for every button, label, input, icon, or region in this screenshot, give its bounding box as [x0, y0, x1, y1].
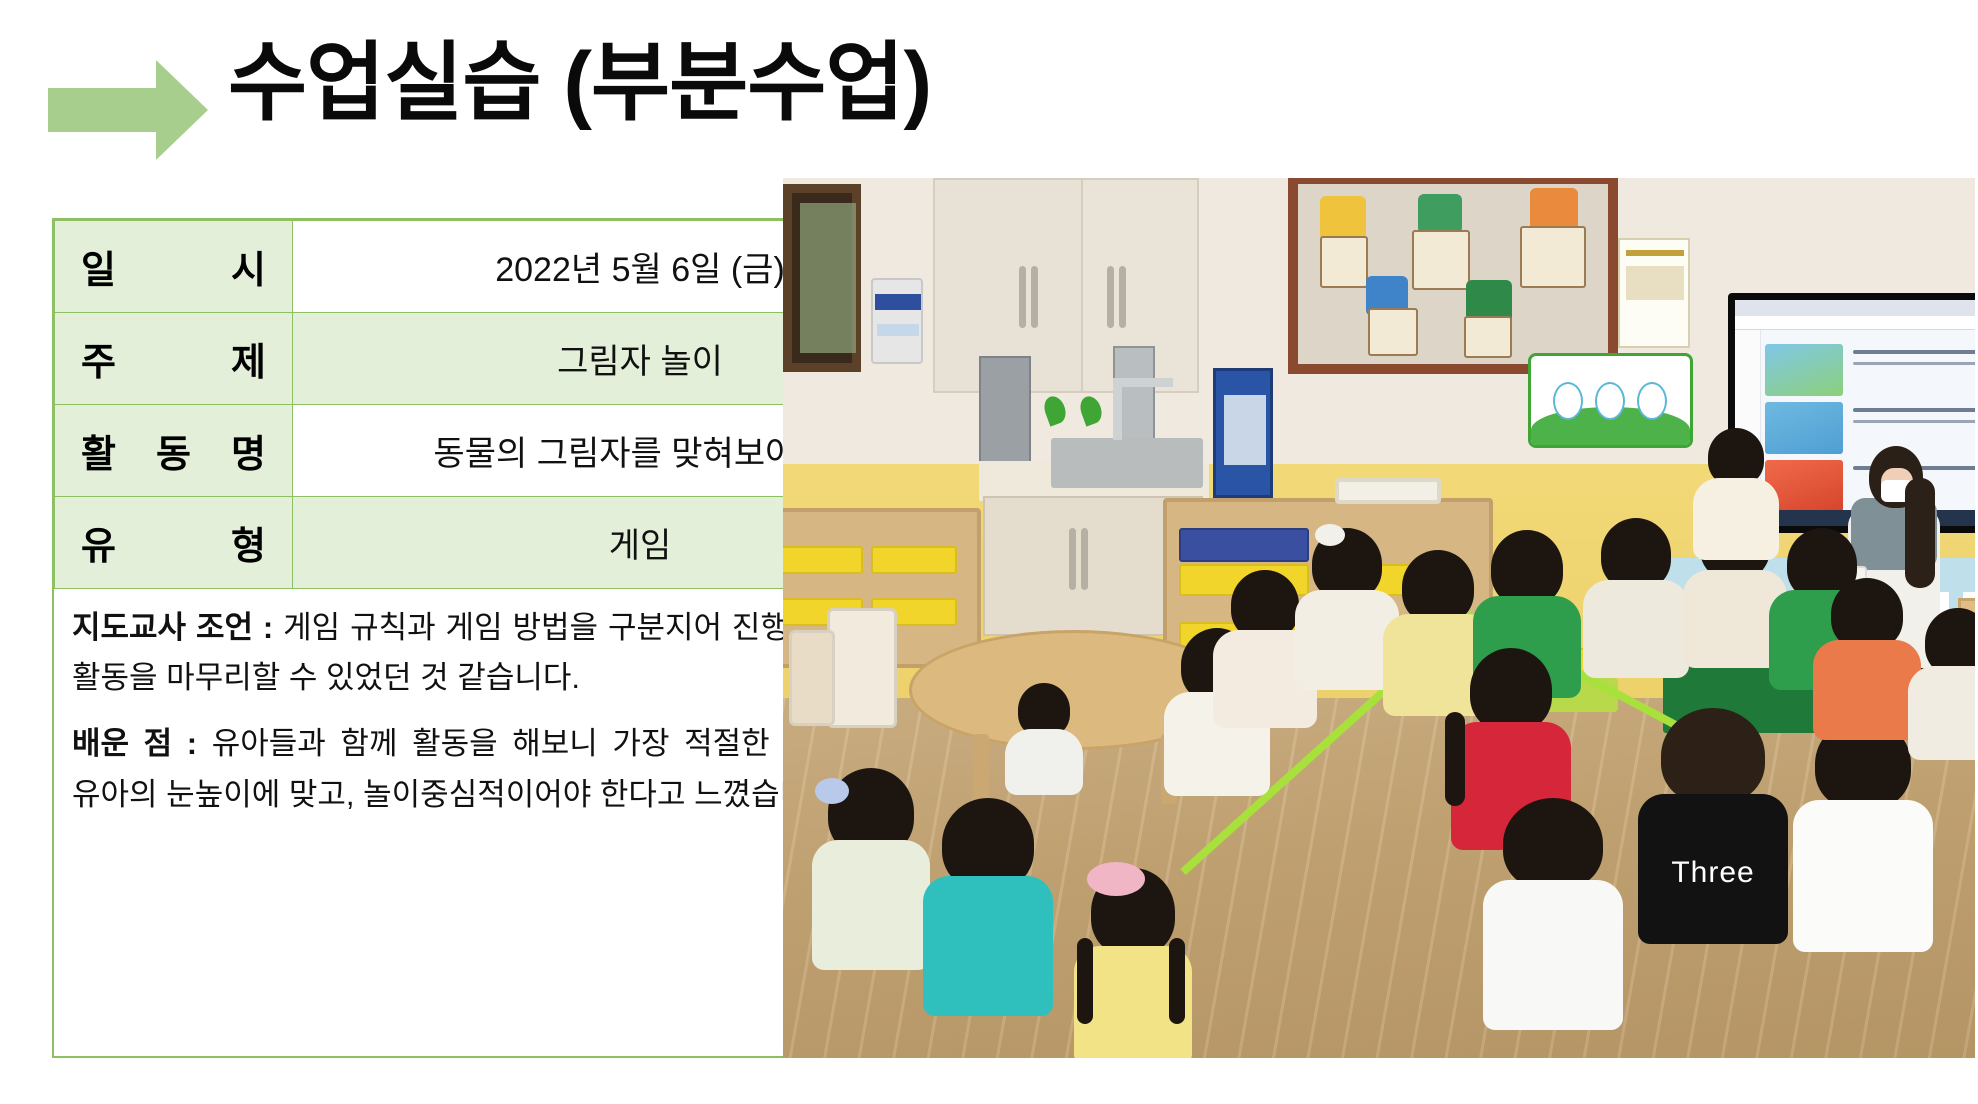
cabinet-handle [1107, 266, 1114, 328]
row-label-type: 유 형 [55, 497, 293, 589]
child-ponytail [1077, 938, 1093, 1024]
child-seated [1813, 578, 1921, 738]
date-egg [1637, 382, 1667, 420]
child-seated [1693, 428, 1779, 558]
bulletin-board [1288, 178, 1618, 374]
child-seated [1483, 798, 1623, 1018]
child-shirt [1908, 666, 1975, 760]
white-basket [1335, 478, 1441, 504]
child-shirt [1483, 880, 1623, 1030]
video-meta-line [1853, 362, 1975, 365]
cabinet-handle [1119, 266, 1126, 328]
note-learned-lead: 배운 점 : [72, 726, 197, 761]
shirt-text: Three [1671, 856, 1754, 890]
content-block: 일 시 2022년 5월 6일 (금) 주 제 [52, 218, 1975, 1058]
photo-scene: A팀 B팀 [783, 178, 1975, 1058]
video-thumbnail [1765, 344, 1843, 396]
child-seated [1005, 683, 1083, 793]
water-purifier [1213, 368, 1273, 498]
child-seated [923, 798, 1053, 1008]
child-seated [1073, 868, 1193, 1058]
label-char: 시 [231, 239, 266, 294]
note-advice-lead: 지도교사 조언 : [72, 610, 273, 645]
child-shirt [1693, 478, 1779, 560]
child-chair [789, 630, 835, 726]
birthday-card [1412, 230, 1470, 290]
row-label-activity: 활 동 명 [55, 405, 293, 497]
certificate-poster [1618, 238, 1690, 348]
label-char: 제 [231, 331, 266, 386]
classroom-photo: A팀 B팀 [783, 178, 1975, 1058]
birthday-card [1320, 236, 1368, 288]
browser-url-bar [1735, 316, 1975, 330]
child-chair [827, 608, 897, 728]
child-hair [1503, 798, 1603, 890]
character-cutout [1320, 196, 1366, 240]
hair-bow [1315, 524, 1345, 546]
date-egg [1553, 382, 1583, 420]
faucet [1113, 378, 1122, 440]
label-char: 활 [81, 423, 116, 478]
browser-tab-bar [1735, 300, 1975, 316]
child-hair [1491, 530, 1563, 606]
today-date-board [1528, 353, 1693, 448]
window [783, 184, 861, 372]
child-shirt [923, 876, 1053, 1016]
birthday-card [1520, 226, 1586, 288]
child-seated [811, 768, 931, 968]
video-title-line [1853, 408, 1975, 412]
cabinet-handle [1069, 528, 1076, 590]
hair-bow [815, 778, 849, 804]
paper-towel-dispenser [871, 278, 923, 364]
birthday-card [1464, 316, 1512, 358]
birthday-card [1368, 308, 1418, 356]
child-seated [1583, 518, 1689, 678]
child-ponytail [1169, 938, 1185, 1024]
row-label-topic: 주 제 [55, 313, 293, 405]
video-meta-line [1853, 420, 1975, 423]
child-seated-three-shirt: Three [1638, 708, 1788, 928]
label-char: 유 [81, 515, 116, 570]
character-cutout [1418, 194, 1462, 234]
blue-tray [1179, 528, 1309, 562]
steel-panel-left [979, 356, 1031, 476]
table-leg [973, 734, 989, 804]
cabinet-handle [1081, 528, 1088, 590]
sink-basin [1051, 438, 1203, 488]
cabinet-handle [1019, 266, 1026, 328]
teacher-ponytail [1905, 478, 1935, 588]
label-char: 동 [156, 423, 191, 478]
yellow-bin [871, 546, 957, 574]
slide-header: 수업실습 (부분수업) [0, 0, 1978, 172]
row-label-date: 일 시 [55, 221, 293, 313]
label-char: 형 [231, 515, 266, 570]
child-shirt [1005, 729, 1083, 795]
video-title-line [1853, 350, 1975, 354]
child-hair [1402, 550, 1474, 624]
child-shirt [1583, 580, 1689, 678]
hair-bow [1087, 862, 1145, 896]
child-ponytail [1445, 712, 1465, 806]
right-arrow-icon [48, 60, 208, 160]
page-title: 수업실습 (부분수업) [228, 30, 931, 138]
child-shirt [812, 840, 930, 970]
slide-root: 수업실습 (부분수업) 일 시 2022년 5월 6일 (금) [0, 0, 1978, 1104]
child-seated [1908, 608, 1975, 758]
label-char: 주 [81, 331, 116, 386]
cabinet-handle [1031, 266, 1038, 328]
child-shirt [1813, 640, 1921, 740]
yellow-bin [783, 546, 863, 574]
child-hair [1470, 648, 1552, 732]
child-shirt [1793, 800, 1933, 952]
child-hair [1661, 708, 1765, 804]
label-char: 일 [81, 239, 116, 294]
label-char: 명 [231, 423, 266, 478]
date-egg [1595, 382, 1625, 420]
